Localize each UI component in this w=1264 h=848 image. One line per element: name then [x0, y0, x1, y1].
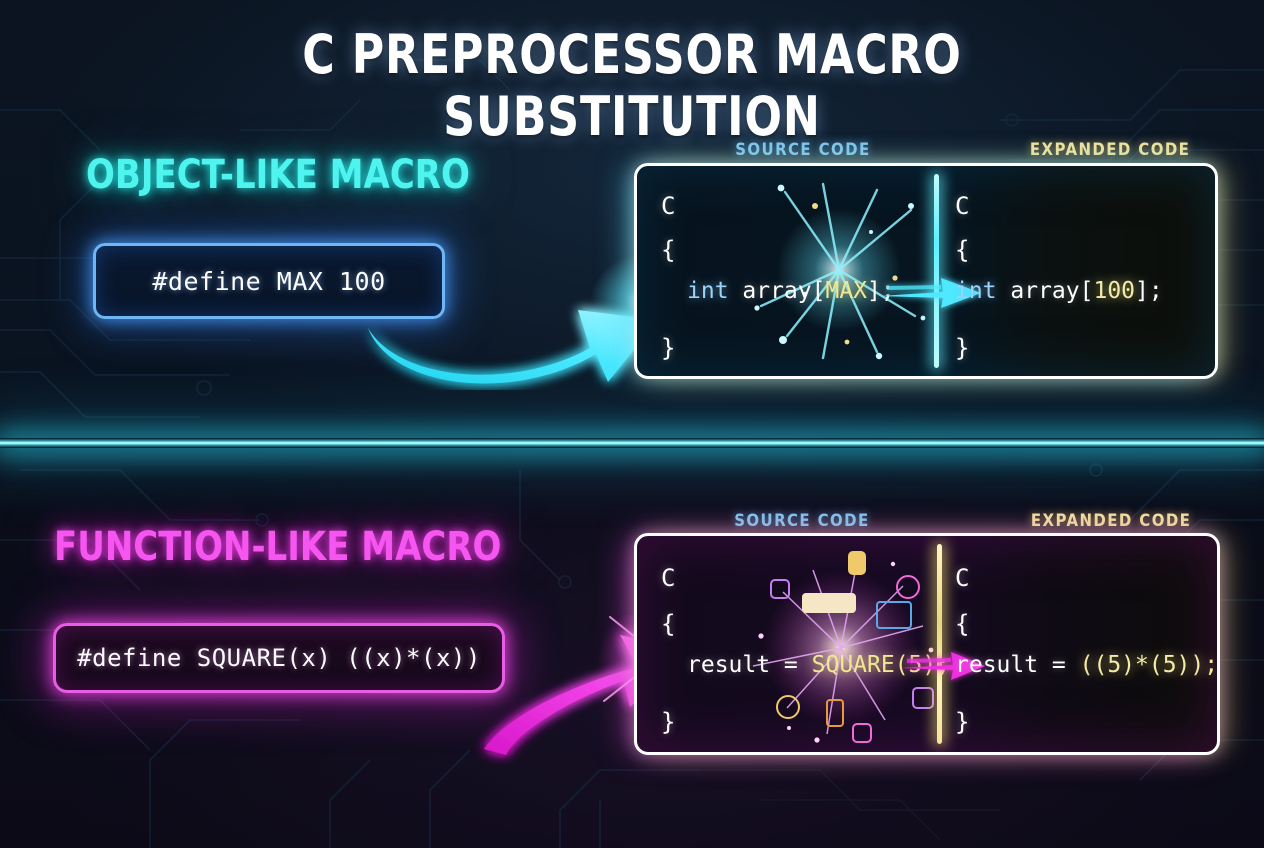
code-lang-source-bottom: C — [661, 564, 675, 592]
code-brace-open-expanded-bottom: { — [955, 610, 969, 638]
code-line-source-top: int array[MAX]; — [687, 280, 895, 303]
code-brace-close-expanded-top: } — [955, 334, 969, 362]
code-brace-close-source-bottom: } — [661, 708, 675, 736]
macro-definition-function-like[interactable]: #define SQUARE(x) ((x)*(x)) — [53, 623, 505, 693]
code-brace-close-expanded-bottom: } — [955, 708, 969, 736]
macro-definition-text: #define SQUARE(x) ((x)*(x)) — [77, 644, 481, 672]
code-lang-expanded-bottom: C — [955, 564, 969, 592]
caption-expanded-code-bottom: EXPANDED CODE — [1031, 511, 1191, 531]
caption-expanded-code-top: EXPANDED CODE — [1030, 140, 1190, 160]
page-title: C PREPROCESSOR MACRO SUBSTITUTION — [114, 24, 1150, 148]
caption-source-code-bottom: SOURCE CODE — [734, 511, 869, 531]
code-line-expanded-top: int array[100]; — [955, 280, 1163, 303]
section-heading-function-like: FUNCTION-LIKE MACRO — [54, 524, 501, 570]
code-panel-object-like: C { int array[MAX]; } C { in — [634, 163, 1218, 379]
code-lang-expanded-top: C — [955, 192, 969, 220]
code-lang-source-top: C — [661, 192, 675, 220]
infographic-canvas: C PREPROCESSOR MACRO SUBSTITUTION OBJECT… — [0, 0, 1264, 848]
code-brace-close-source-top: } — [661, 334, 675, 362]
section-heading-object-like: OBJECT-LIKE MACRO — [86, 152, 470, 198]
code-line-expanded-bottom: result = ((5)*(5)); — [955, 654, 1218, 677]
code-brace-open-expanded-top: { — [955, 236, 969, 264]
code-brace-open-source-top: { — [661, 236, 675, 264]
code-brace-open-source-bottom: { — [661, 610, 675, 638]
flow-arrow-cyan — [340, 250, 680, 390]
caption-source-code-top: SOURCE CODE — [735, 140, 870, 160]
code-panel-function-like: C { result = SQUARE(5); } C { — [634, 533, 1220, 755]
section-divider — [0, 438, 1264, 448]
